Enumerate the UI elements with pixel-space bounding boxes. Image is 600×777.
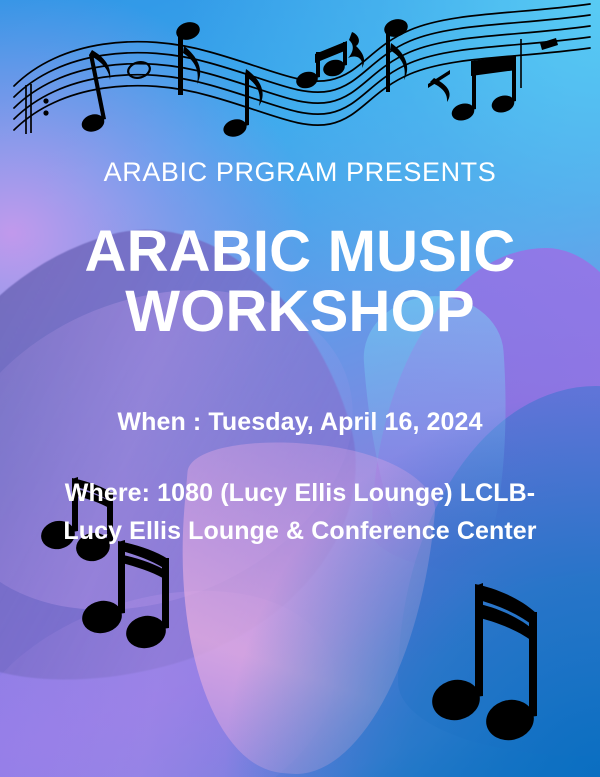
event-poster: ARABIC PRGRAM PRESENTS ARABIC MUSIC WORK… [0, 0, 600, 777]
beamed-eighth-notes-right-icon [424, 572, 584, 752]
musical-staff-icon [0, 0, 600, 160]
beamed-eighth-notes-left-icon [30, 462, 200, 652]
